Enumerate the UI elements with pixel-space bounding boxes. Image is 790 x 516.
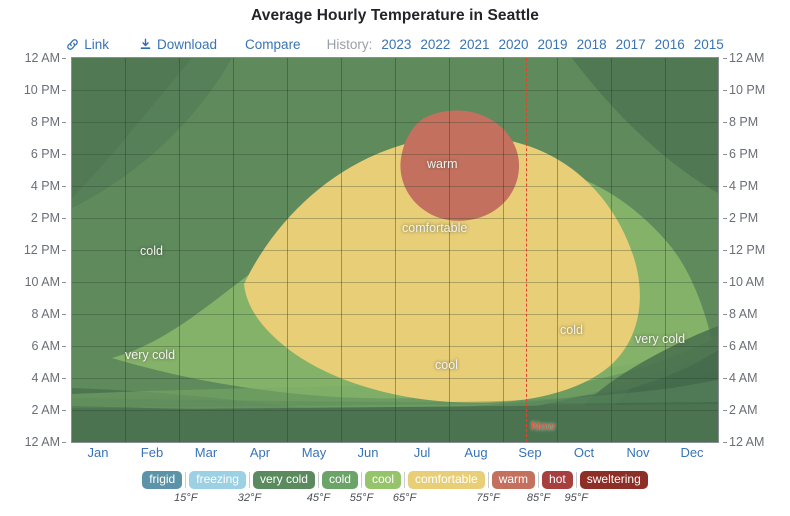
y-tick-mark-right-0 <box>723 58 727 59</box>
history-year-2020[interactable]: 2020 <box>498 37 528 52</box>
legend-separator <box>185 472 186 488</box>
y-tick-mark-left-5 <box>62 218 66 219</box>
y-tick-mark-left-0 <box>62 58 66 59</box>
history-year-2015[interactable]: 2015 <box>694 37 724 52</box>
y-tick-label-right-1: 10 PM <box>729 83 765 97</box>
x-tick-jun[interactable]: Jun <box>358 445 379 460</box>
x-tick-oct[interactable]: Oct <box>574 445 594 460</box>
y-tick-label-right-6: 12 PM <box>729 243 765 257</box>
download-button[interactable]: Download <box>139 37 217 52</box>
y-tick-mark-right-12 <box>723 442 727 443</box>
legend-pill-frigid[interactable]: frigid <box>142 471 182 489</box>
legend-temp-65f: 65°F <box>393 492 416 504</box>
legend-separator <box>538 472 539 488</box>
y-tick-label-right-5: 2 PM <box>729 211 758 225</box>
legend-separator <box>361 472 362 488</box>
history-year-2021[interactable]: 2021 <box>459 37 489 52</box>
history-year-list: 202320222021202020192018201720162015 <box>381 37 723 52</box>
now-marker-line <box>526 58 527 442</box>
legend-temperature-scale: 15°F32°F45°F55°F65°F75°F85°F95°F <box>142 492 648 508</box>
y-tick-mark-left-10 <box>62 378 66 379</box>
y-tick-label-left-11: 2 AM <box>32 403 61 417</box>
legend-separator <box>576 472 577 488</box>
y-tick-label-right-3: 6 PM <box>729 147 758 161</box>
y-tick-label-right-8: 8 AM <box>729 307 758 321</box>
legend-temp-32f: 32°F <box>238 492 261 504</box>
y-tick-mark-right-10 <box>723 378 727 379</box>
download-label: Download <box>157 37 217 52</box>
history-year-2016[interactable]: 2016 <box>655 37 685 52</box>
compare-button[interactable]: Compare <box>245 37 301 52</box>
y-tick-label-right-11: 2 AM <box>729 403 758 417</box>
legend-temp-45f: 45°F <box>307 492 330 504</box>
y-tick-label-left-4: 4 PM <box>31 179 60 193</box>
page-title: Average Hourly Temperature in Seattle <box>0 7 790 25</box>
now-marker-label: Now <box>531 419 555 433</box>
y-tick-label-right-2: 8 PM <box>729 115 758 129</box>
x-tick-feb[interactable]: Feb <box>141 445 163 460</box>
legend-separator <box>318 472 319 488</box>
link-button[interactable]: Link <box>66 37 109 52</box>
x-tick-sep[interactable]: Sep <box>518 445 541 460</box>
legend-pill-very-cold[interactable]: very cold <box>253 471 315 489</box>
y-tick-mark-left-6 <box>62 250 66 251</box>
y-tick-label-left-6: 12 PM <box>24 243 60 257</box>
y-tick-label-right-12: 12 AM <box>729 435 764 449</box>
y-tick-mark-right-3 <box>723 154 727 155</box>
y-axis-right: 12 AM10 PM8 PM6 PM4 PM2 PM12 PM10 AM8 AM… <box>723 57 789 443</box>
legend-pill-hot[interactable]: hot <box>542 471 573 489</box>
legend-pill-cool[interactable]: cool <box>365 471 401 489</box>
y-tick-label-left-2: 8 PM <box>31 115 60 129</box>
legend-temp-75f: 75°F <box>477 492 500 504</box>
legend-temp-85f: 85°F <box>527 492 550 504</box>
temperature-legend: frigidfreezingvery coldcoldcoolcomfortab… <box>0 471 790 508</box>
y-tick-mark-left-11 <box>62 410 66 411</box>
y-tick-label-left-12: 12 AM <box>25 435 60 449</box>
legend-temp-95f: 95°F <box>565 492 588 504</box>
y-tick-label-left-7: 10 AM <box>25 275 60 289</box>
y-tick-mark-left-2 <box>62 122 66 123</box>
x-tick-apr[interactable]: Apr <box>250 445 270 460</box>
y-tick-label-right-4: 4 PM <box>729 179 758 193</box>
y-tick-mark-left-7 <box>62 282 66 283</box>
link-icon <box>66 38 79 51</box>
y-tick-label-right-10: 4 AM <box>729 371 758 385</box>
temperature-heatmap[interactable]: cold comfortable warm very cold cool col… <box>71 57 719 443</box>
weather-chart-page: Average Hourly Temperature in Seattle Li… <box>0 0 790 516</box>
y-tick-label-right-7: 10 AM <box>729 275 764 289</box>
y-tick-mark-right-6 <box>723 250 727 251</box>
legend-pill-sweltering[interactable]: sweltering <box>580 471 648 489</box>
legend-separator <box>249 472 250 488</box>
y-tick-label-left-5: 2 PM <box>31 211 60 225</box>
y-tick-label-left-3: 6 PM <box>31 147 60 161</box>
history-year-2023[interactable]: 2023 <box>381 37 411 52</box>
legend-temp-55f: 55°F <box>350 492 373 504</box>
y-tick-mark-right-7 <box>723 282 727 283</box>
x-tick-nov[interactable]: Nov <box>626 445 649 460</box>
x-tick-aug[interactable]: Aug <box>464 445 487 460</box>
x-tick-may[interactable]: May <box>302 445 327 460</box>
y-tick-label-left-10: 4 AM <box>32 371 61 385</box>
heatmap-bands <box>72 58 718 442</box>
y-axis-left: 12 AM10 PM8 PM6 PM4 PM2 PM12 PM10 AM8 AM… <box>0 57 66 443</box>
y-tick-mark-left-9 <box>62 346 66 347</box>
legend-separator <box>404 472 405 488</box>
y-tick-mark-right-11 <box>723 410 727 411</box>
legend-temp-15f: 15°F <box>174 492 197 504</box>
y-tick-mark-right-9 <box>723 346 727 347</box>
y-tick-mark-right-4 <box>723 186 727 187</box>
history-label: History: <box>327 37 373 52</box>
y-tick-mark-right-8 <box>723 314 727 315</box>
x-axis-months: JanFebMarAprMayJunJulAugSepOctNovDec <box>71 445 719 465</box>
y-tick-mark-right-1 <box>723 90 727 91</box>
legend-pill-warm[interactable]: warm <box>492 471 535 489</box>
history-year-2019[interactable]: 2019 <box>538 37 568 52</box>
legend-pill-row: frigidfreezingvery coldcoldcoolcomfortab… <box>142 471 648 489</box>
legend-pill-freezing[interactable]: freezing <box>189 471 246 489</box>
history-year-2018[interactable]: 2018 <box>577 37 607 52</box>
y-tick-label-left-0: 12 AM <box>25 51 60 65</box>
legend-separator <box>488 472 489 488</box>
y-tick-label-right-9: 6 AM <box>729 339 758 353</box>
y-tick-mark-left-1 <box>62 90 66 91</box>
x-tick-dec[interactable]: Dec <box>680 445 703 460</box>
y-tick-label-left-8: 8 AM <box>32 307 61 321</box>
y-tick-mark-left-12 <box>62 442 66 443</box>
y-tick-mark-left-8 <box>62 314 66 315</box>
history-year-2022[interactable]: 2022 <box>420 37 450 52</box>
history-year-2017[interactable]: 2017 <box>616 37 646 52</box>
y-tick-label-left-1: 10 PM <box>24 83 60 97</box>
download-icon <box>139 38 152 51</box>
y-tick-mark-right-5 <box>723 218 727 219</box>
y-tick-mark-right-2 <box>723 122 727 123</box>
y-tick-label-right-0: 12 AM <box>729 51 764 65</box>
legend-pill-cold[interactable]: cold <box>322 471 358 489</box>
y-tick-label-left-9: 6 AM <box>32 339 61 353</box>
x-tick-jan[interactable]: Jan <box>88 445 109 460</box>
link-label: Link <box>84 37 109 52</box>
chart-toolbar: Link Download Compare History: 202320222… <box>0 34 790 54</box>
x-tick-jul[interactable]: Jul <box>414 445 431 460</box>
x-tick-mar[interactable]: Mar <box>195 445 217 460</box>
legend-pill-comfortable[interactable]: comfortable <box>408 471 485 489</box>
y-tick-mark-left-4 <box>62 186 66 187</box>
y-tick-mark-left-3 <box>62 154 66 155</box>
compare-label: Compare <box>245 37 301 52</box>
